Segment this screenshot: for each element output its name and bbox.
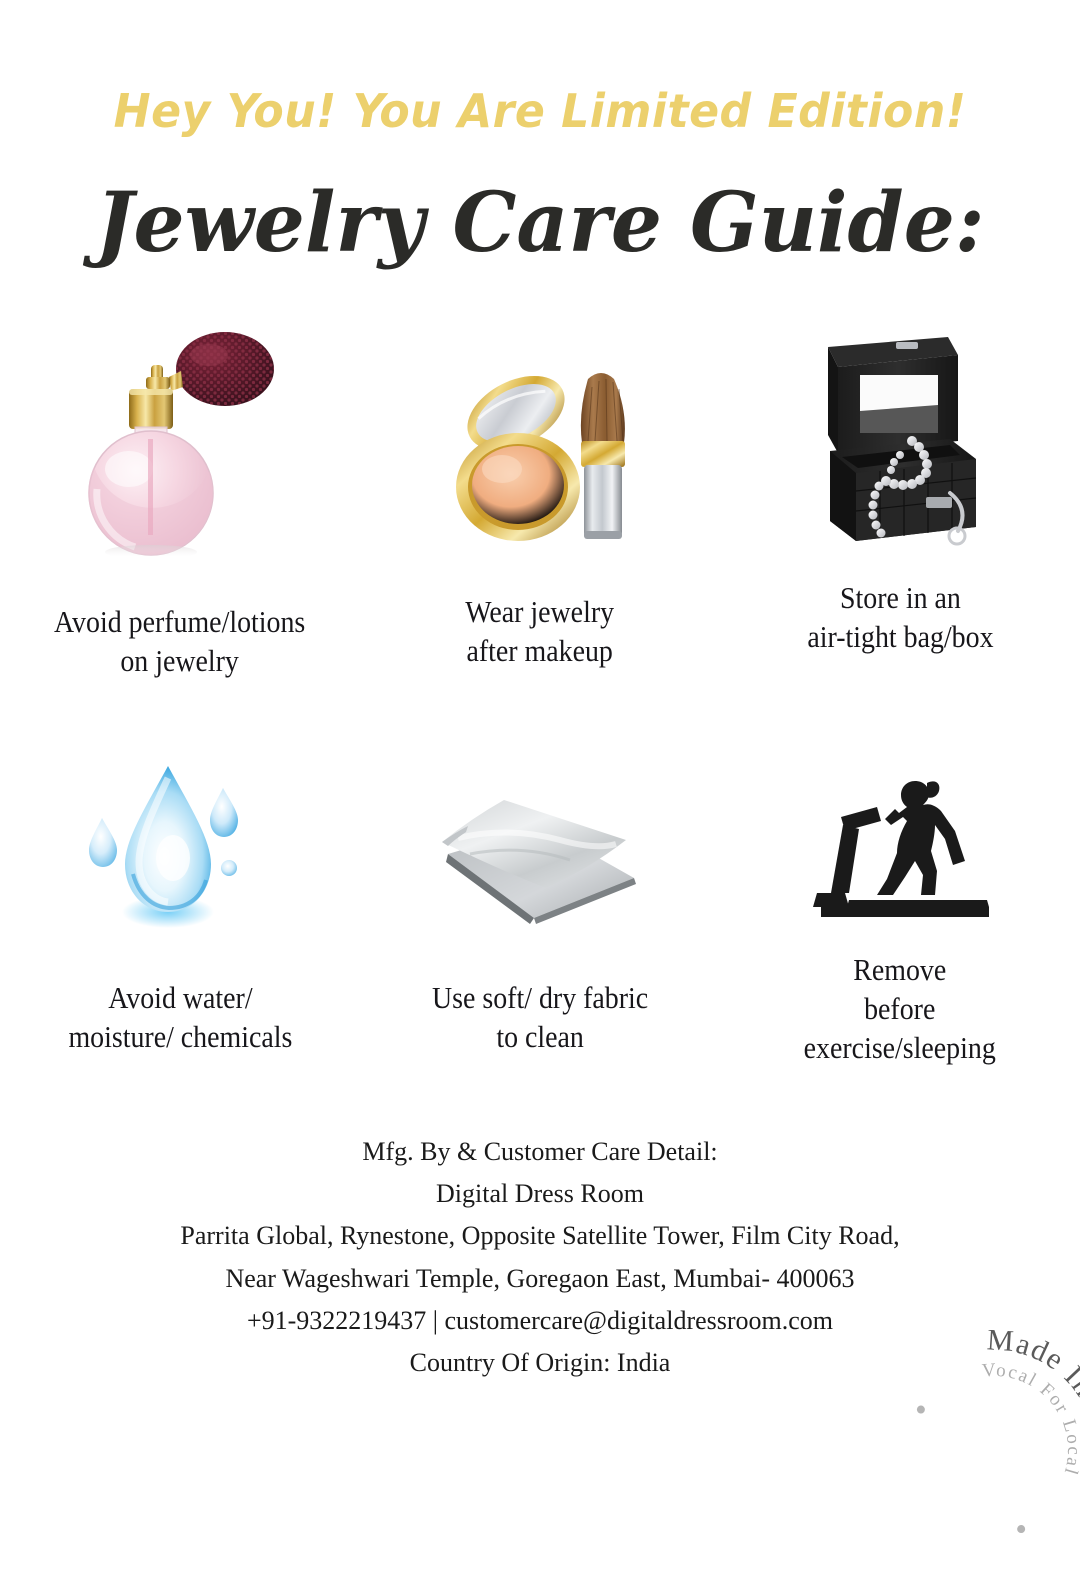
- perfume-atomizer-icon: [0, 316, 360, 556]
- makeup-compact-brush-icon: [360, 316, 720, 556]
- footer-line: Country Of Origin: India: [0, 1342, 1080, 1384]
- tip-label: Use soft/ dry fabric to clean: [432, 978, 648, 1056]
- tip-label: Store in an air-tight bag/box: [807, 578, 993, 656]
- footer-line: +91-9322219437 | customercare@digitaldre…: [0, 1300, 1080, 1342]
- tip-row-1: Avoid perfume/lotions on jewelry: [0, 316, 1080, 680]
- water-droplet-icon: [0, 742, 360, 932]
- tagline: Hey You! You Are Limited Edition!: [22, 88, 1059, 134]
- jewelry-box-icon: [720, 316, 1080, 556]
- footer-line: Mfg. By & Customer Care Detail:: [0, 1131, 1080, 1173]
- tip-label: Avoid perfume/lotions on jewelry: [54, 602, 305, 680]
- tip-remove-before-exercise: Remove before exercise/sleeping: [720, 742, 1080, 1067]
- footer-line: Near Wageshwari Temple, Goregaon East, M…: [0, 1258, 1080, 1300]
- page-title: Jewelry Care Guide:: [11, 182, 1069, 264]
- tip-avoid-perfume: Avoid perfume/lotions on jewelry: [0, 316, 360, 680]
- badge-dot: [915, 1404, 926, 1415]
- footer-contact-block: Mfg. By & Customer Care Detail: Digital …: [0, 1131, 1080, 1384]
- tip-row-2: Avoid water/ moisture/ chemicals: [0, 742, 1080, 1067]
- tip-label: Remove before exercise/sleeping: [804, 950, 996, 1067]
- tip-label: Avoid water/ moisture/ chemicals: [68, 978, 292, 1056]
- tip-soft-cloth: Use soft/ dry fabric to clean: [360, 742, 720, 1067]
- badge-dot: [1016, 1523, 1027, 1534]
- treadmill-runner-icon: [720, 742, 1080, 932]
- tip-store-airtight: Store in an air-tight bag/box: [720, 316, 1080, 680]
- tip-label: Wear jewelry after makeup: [466, 592, 615, 670]
- footer-line: Parrita Global, Rynestone, Opposite Sate…: [0, 1215, 1080, 1257]
- care-tips-grid: Avoid perfume/lotions on jewelry: [0, 316, 1080, 1067]
- tip-wear-after-makeup: Wear jewelry after makeup: [360, 316, 720, 680]
- polishing-cloth-icon: [360, 742, 720, 932]
- footer-line: Digital Dress Room: [0, 1173, 1080, 1215]
- tip-avoid-water: Avoid water/ moisture/ chemicals: [0, 742, 360, 1067]
